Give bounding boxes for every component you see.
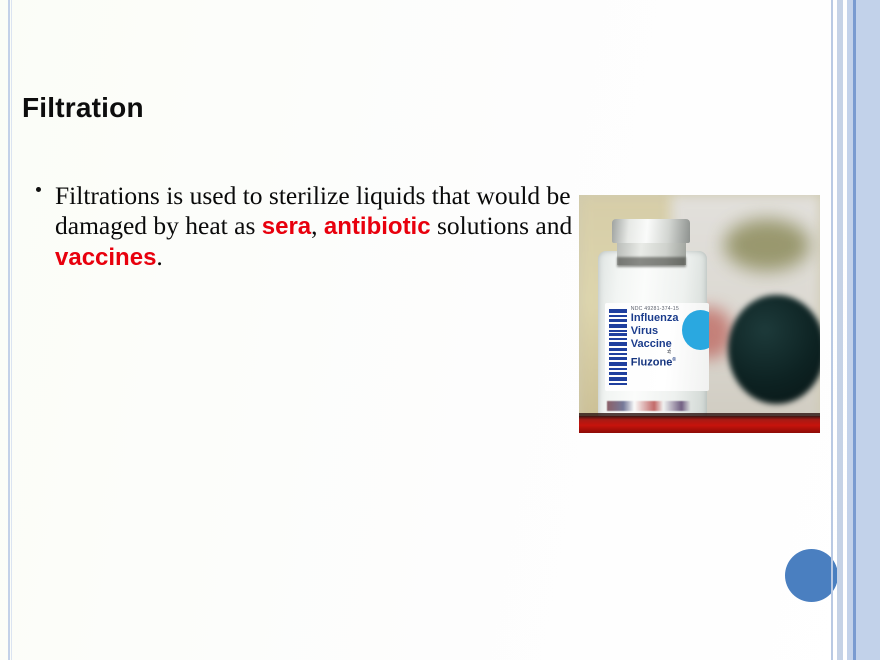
right-band-fill: [856, 0, 880, 660]
vaccine-vial-image: NDC 49281-374-15 Influenza Virus Vaccine…: [579, 195, 820, 433]
bullet-dot-icon: [36, 187, 41, 192]
vial-aluminum-cap: [612, 219, 690, 243]
slide-body: Filtrations is used to sterilize liquids…: [33, 181, 578, 273]
photo-red-counter: [579, 416, 820, 433]
vial-neck-shadow: [617, 257, 686, 267]
label-line-1: Influenza: [631, 312, 707, 325]
label-brand-text: Fluzone: [631, 357, 673, 369]
left-edge-rule-secondary: [11, 0, 12, 660]
highlight-sera: sera: [262, 213, 311, 240]
right-band-2: [837, 0, 843, 660]
bullet-segment-3: solutions and: [431, 211, 573, 240]
bullet-segment-2: ,: [311, 211, 324, 240]
vial: NDC 49281-374-15 Influenza Virus Vaccine…: [598, 219, 706, 419]
bullet-list-item: Filtrations is used to sterilize liquids…: [33, 181, 578, 273]
label-line-2: Virus: [631, 325, 707, 338]
bullet-text: Filtrations is used to sterilize liquids…: [55, 181, 572, 271]
label-barcode-icon: [609, 309, 627, 385]
right-band-rule-1: [831, 0, 833, 660]
slide-title: Filtration: [22, 92, 144, 124]
label-text-group: NDC 49281-374-15 Influenza Virus Vaccine…: [631, 306, 707, 370]
highlight-vaccines: vaccines: [55, 244, 156, 271]
vial-bottom-markings: [607, 401, 698, 411]
presentation-slide: Filtration Filtrations is used to steril…: [0, 0, 880, 660]
photo-dark-sphere: [728, 295, 820, 404]
bullet-segment-4: .: [156, 242, 162, 271]
label-foreign-symbol: र्म: [667, 348, 671, 356]
photo-blur-shape-olive: [724, 219, 811, 271]
label-brand-name: Fluzone®: [631, 354, 707, 370]
left-edge-rule-primary: [8, 0, 10, 660]
highlight-antibiotic: antibiotic: [324, 213, 431, 240]
label-registered-mark: ®: [672, 357, 676, 363]
vial-label: NDC 49281-374-15 Influenza Virus Vaccine…: [605, 303, 709, 391]
